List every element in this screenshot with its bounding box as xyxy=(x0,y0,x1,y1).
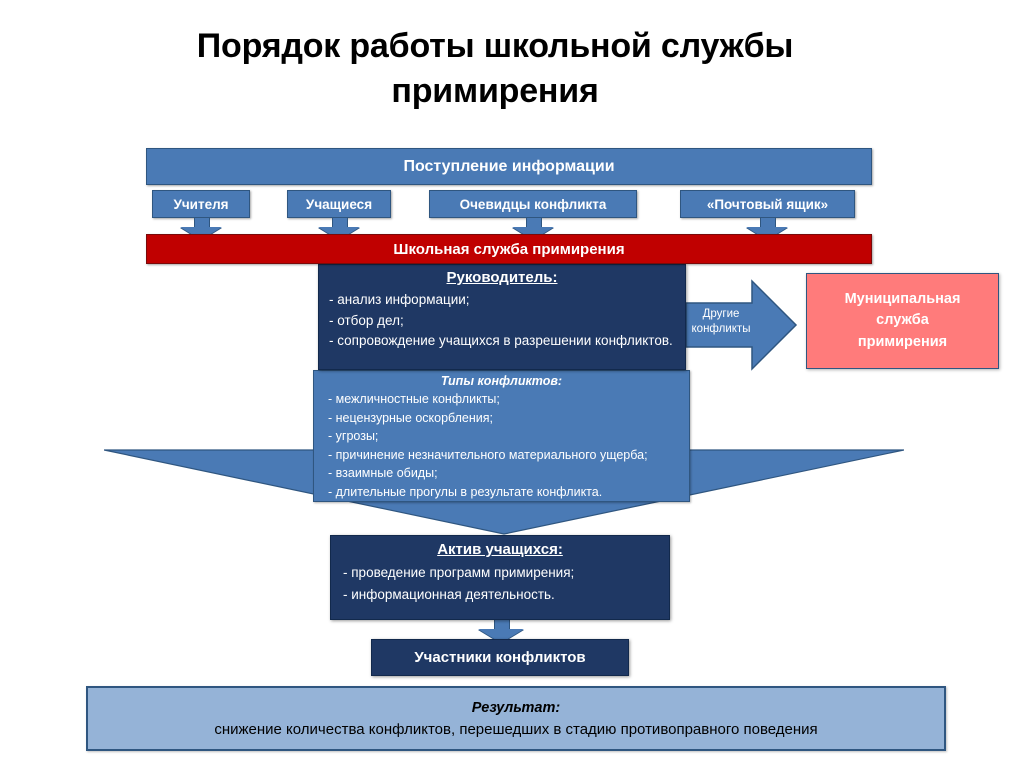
student-activists-heading: Актив учащихся: xyxy=(331,541,669,558)
student-activists-list: - проведение программ примирения; - инфо… xyxy=(331,562,669,606)
municipal-line1: Муниципальная xyxy=(845,291,961,307)
page-title: Порядок работы школьной службы примирени… xyxy=(95,24,895,114)
source-box-students: Учащиеся xyxy=(287,190,391,218)
header-band-information-intake: Поступление информации xyxy=(146,148,872,185)
arrow-right-other-conflicts-icon: Другие конфликты xyxy=(686,277,798,373)
participants-label: Участники конфликтов xyxy=(414,649,585,666)
municipal-line2: служба xyxy=(876,312,929,328)
source-label-teachers: Учителя xyxy=(153,197,249,212)
other-conflicts-line2: конфликты xyxy=(692,323,751,335)
header-band-label: Поступление информации xyxy=(147,158,871,176)
conflict-types-heading: Типы конфликтов: xyxy=(314,374,689,388)
slide-canvas: Порядок работы школьной службы примирени… xyxy=(0,0,1023,763)
leader-list: - анализ информации; - отбор дел; - сопр… xyxy=(319,290,685,352)
list-item: - анализ информации; xyxy=(329,290,677,311)
municipal-mediation-service-box: Муниципальная служба примирения xyxy=(806,273,999,369)
municipal-text: Муниципальная служба примирения xyxy=(845,289,961,352)
service-bar-school-mediation: Школьная служба примирения xyxy=(146,234,872,264)
source-box-witnesses: Очевидцы конфликта xyxy=(429,190,637,218)
other-conflicts-label: Другие конфликты xyxy=(690,307,752,337)
conflict-types-box: Типы конфликтов: - межличностные конфлик… xyxy=(313,370,690,502)
result-box: Результат: снижение количества конфликто… xyxy=(86,686,946,751)
other-conflicts-line1: Другие xyxy=(703,308,740,320)
student-activists-box: Актив учащихся: - проведение программ пр… xyxy=(330,535,670,620)
list-item: - нецензурные оскорбления; xyxy=(328,409,683,428)
list-item: - сопровождение учащихся в разрешении ко… xyxy=(329,331,677,352)
leader-heading: Руководитель: xyxy=(319,269,685,286)
result-heading: Результат: xyxy=(88,700,944,716)
list-item: - отбор дел; xyxy=(329,311,677,332)
participants-box: Участники конфликтов xyxy=(371,639,629,676)
list-item: - межличностные конфликты; xyxy=(328,390,683,409)
source-box-mailbox: «Почтовый ящик» xyxy=(680,190,855,218)
list-item: - взаимные обиды; xyxy=(328,464,683,483)
list-item: - угрозы; xyxy=(328,427,683,446)
result-text: снижение количества конфликтов, перешедш… xyxy=(88,721,944,738)
source-box-teachers: Учителя xyxy=(152,190,250,218)
municipal-line3: примирения xyxy=(858,334,947,350)
leader-box: Руководитель: - анализ информации; - отб… xyxy=(318,264,686,370)
source-label-students: Учащиеся xyxy=(288,197,390,212)
list-item: - причинение незначительного материально… xyxy=(328,446,683,465)
list-item: - проведение программ примирения; xyxy=(343,562,661,584)
source-label-witnesses: Очевидцы конфликта xyxy=(430,197,636,212)
conflict-types-list: - межличностные конфликты; - нецензурные… xyxy=(314,390,689,501)
service-bar-label: Школьная служба примирения xyxy=(393,241,624,258)
source-label-mailbox: «Почтовый ящик» xyxy=(681,197,854,212)
list-item: - длительные прогулы в результате конфли… xyxy=(328,483,683,502)
list-item: - информационная деятельность. xyxy=(343,584,661,606)
